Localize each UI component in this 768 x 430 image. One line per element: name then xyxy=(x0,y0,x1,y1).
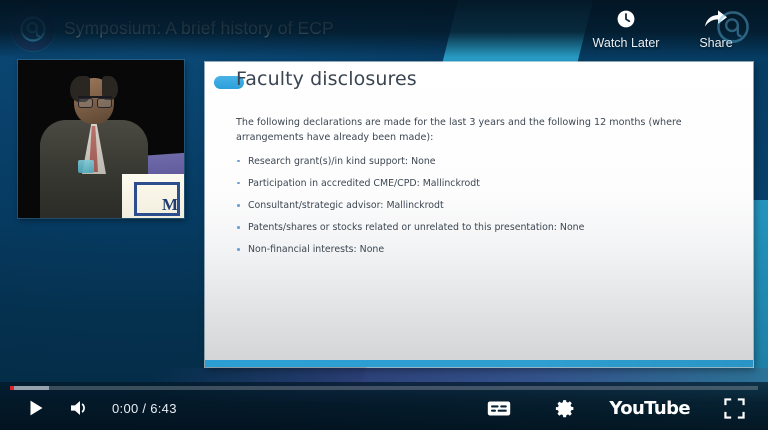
share-button[interactable]: Share xyxy=(674,6,758,50)
controls-right-group: YouTube xyxy=(477,386,756,430)
youtube-logo-button[interactable]: YouTube xyxy=(609,398,690,419)
slide-bullet-list: Research grant(s)/in kind support: None … xyxy=(236,155,731,257)
watch-later-label: Watch Later xyxy=(593,36,660,50)
share-label: Share xyxy=(699,36,732,50)
youtube-label: YouTube xyxy=(609,398,690,419)
slide-intro-text: The following declarations are made for … xyxy=(236,116,731,146)
slide-bullet-item: Participation in accredited CME/CPD: Mal… xyxy=(236,177,731,190)
volume-button[interactable] xyxy=(58,386,102,430)
play-button[interactable] xyxy=(14,386,58,430)
podium-sign: M xyxy=(122,174,184,218)
youtube-video-player[interactable]: Faculty disclosures The following declar… xyxy=(0,0,768,430)
slide-title: Faculty disclosures xyxy=(236,68,417,90)
podium-sign-text: M xyxy=(162,195,177,215)
controls-left-group: 0:00 / 6:43 xyxy=(14,386,177,430)
share-arrow-icon xyxy=(703,6,729,32)
captions-button[interactable] xyxy=(477,386,521,430)
speaker-badge xyxy=(78,160,94,173)
settings-button[interactable] xyxy=(543,386,587,430)
slide-bullet-item: Non-financial interests: None xyxy=(236,243,731,256)
player-controls-bar: 0:00 / 6:43 YouTube xyxy=(0,382,768,430)
time-display: 0:00 / 6:43 xyxy=(112,401,177,416)
clock-icon xyxy=(615,6,637,32)
slide-bullet-item: Patents/shares or stocks related or unre… xyxy=(236,221,731,234)
speaker-glasses xyxy=(78,96,112,107)
slide-body: The following declarations are made for … xyxy=(236,116,731,266)
fullscreen-button[interactable] xyxy=(712,386,756,430)
slide-bullet-item: Research grant(s)/in kind support: None xyxy=(236,155,731,168)
slide-footer-accent-bar xyxy=(205,360,753,367)
player-top-actions: Watch Later Share xyxy=(584,6,758,50)
watch-later-button[interactable]: Watch Later xyxy=(584,6,668,50)
speaker-video-inset: M xyxy=(18,60,184,218)
slide-bullet-item: Consultant/strategic advisor: Mallinckro… xyxy=(236,199,731,212)
presentation-slide: Faculty disclosures The following declar… xyxy=(205,62,753,367)
speaker-scene: M xyxy=(18,60,184,218)
